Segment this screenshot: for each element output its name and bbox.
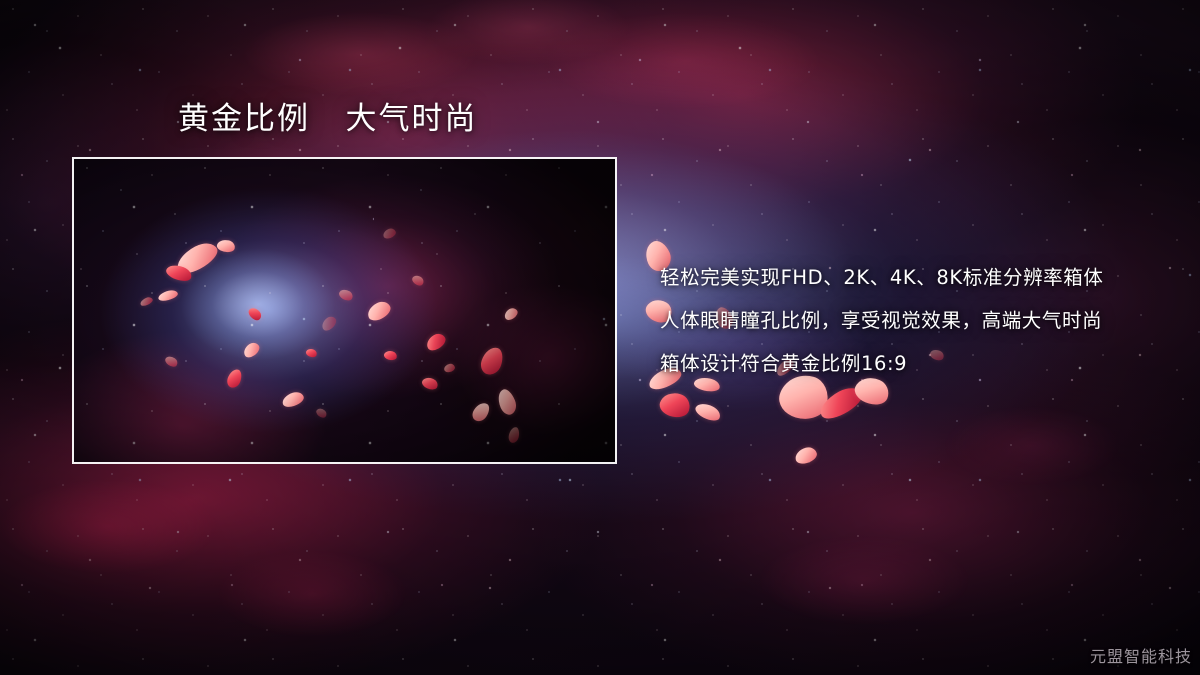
rose-petal <box>816 382 867 423</box>
rose-petal <box>693 400 723 424</box>
description-line: 箱体设计符合黄金比例16:9 <box>660 342 1165 385</box>
display-preview-frame[interactable] <box>72 157 617 464</box>
description-line: 人体眼睛瞳孔比例，享受视觉效果，高端大气时尚 <box>660 299 1165 342</box>
panel-vignette <box>74 159 615 462</box>
rose-petal <box>793 445 818 465</box>
rose-petal <box>657 389 693 421</box>
presentation-slide: 黄金比例 大气时尚 轻松完美实现FHD、2K、4K、8K标准分辨率箱体 人体眼睛… <box>0 0 1200 675</box>
description-line: 轻松完美实现FHD、2K、4K、8K标准分辨率箱体 <box>660 256 1165 299</box>
feature-description: 轻松完美实现FHD、2K、4K、8K标准分辨率箱体 人体眼睛瞳孔比例，享受视觉效… <box>660 256 1165 385</box>
page-title: 黄金比例 大气时尚 <box>178 100 478 139</box>
company-watermark: 元盟智能科技 <box>1090 643 1192 667</box>
